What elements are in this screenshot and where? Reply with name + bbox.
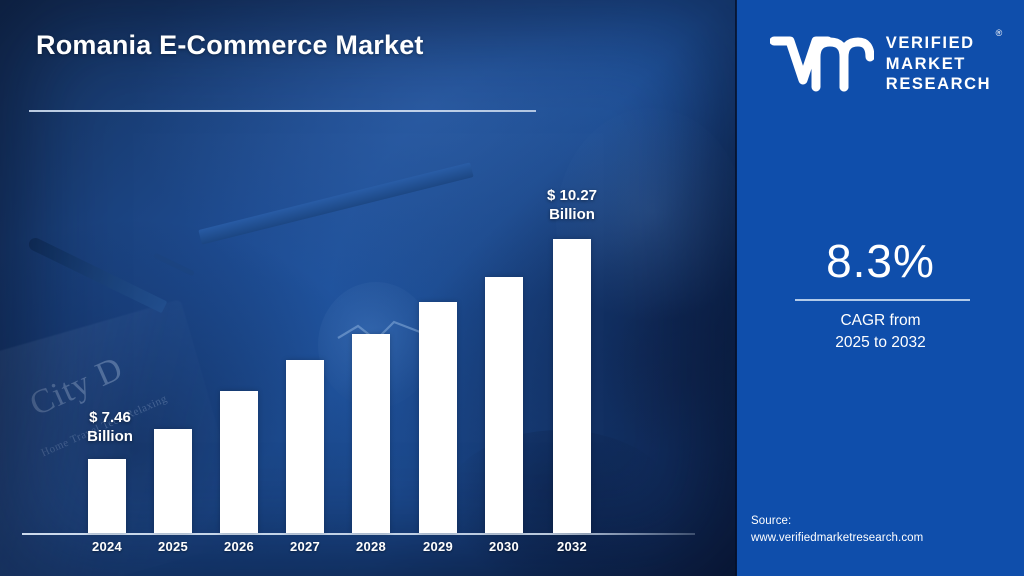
x-axis-label-2032: 2032 bbox=[537, 539, 607, 554]
bar-2029[interactable] bbox=[419, 302, 457, 533]
cagr-divider bbox=[795, 299, 970, 301]
bar-2030[interactable] bbox=[485, 277, 523, 533]
cagr-value: 8.3% bbox=[737, 234, 1024, 288]
registered-trademark-icon: ® bbox=[996, 28, 1003, 39]
brand-name-line-2: MARKET bbox=[886, 54, 991, 75]
x-axis-label-2027: 2027 bbox=[270, 539, 340, 554]
callout-last-value: $ 10.27 Billion bbox=[524, 186, 620, 224]
callout-first-unit: Billion bbox=[62, 427, 158, 446]
brand-logo: VERIFIED MARKET RESEARCH ® bbox=[737, 26, 1024, 102]
brand-name-line-1: VERIFIED bbox=[886, 33, 991, 54]
brand-name: VERIFIED MARKET RESEARCH ® bbox=[886, 33, 991, 95]
brand-panel: VERIFIED MARKET RESEARCH ® 8.3% CAGR fro… bbox=[737, 0, 1024, 576]
callout-first-value: $ 7.46 Billion bbox=[62, 408, 158, 446]
infographic-canvas: City D Home Travel Tech Relaxing Romania… bbox=[0, 0, 1024, 576]
callout-last-unit: Billion bbox=[524, 205, 620, 224]
bar-2025[interactable] bbox=[154, 429, 192, 533]
source-note: Source: www.verifiedmarketresearch.com bbox=[751, 513, 1024, 548]
x-axis-label-2026: 2026 bbox=[204, 539, 274, 554]
x-axis-label-2029: 2029 bbox=[403, 539, 473, 554]
x-axis-label-2028: 2028 bbox=[336, 539, 406, 554]
brand-name-line-3: RESEARCH bbox=[886, 74, 991, 95]
x-axis-label-2030: 2030 bbox=[469, 539, 539, 554]
bar-2026[interactable] bbox=[220, 391, 258, 533]
chart-panel: City D Home Travel Tech Relaxing Romania… bbox=[0, 0, 737, 576]
bar-chart: $ 7.46 Billion $ 10.27 Billion 202420252… bbox=[0, 0, 737, 576]
cagr-caption: CAGR from 2025 to 2032 bbox=[737, 310, 1024, 355]
bar-2024[interactable] bbox=[88, 459, 126, 533]
cagr-caption-line-2: 2025 to 2032 bbox=[737, 332, 1024, 354]
source-label: Source: bbox=[751, 513, 1024, 530]
cagr-caption-line-1: CAGR from bbox=[737, 310, 1024, 332]
x-axis-line bbox=[22, 533, 695, 535]
x-axis-label-2025: 2025 bbox=[138, 539, 208, 554]
bar-2032[interactable] bbox=[553, 239, 591, 533]
x-axis-label-2024: 2024 bbox=[72, 539, 142, 554]
vm-logo-icon bbox=[770, 35, 874, 93]
bar-2027[interactable] bbox=[286, 360, 324, 533]
bar-2028[interactable] bbox=[352, 334, 390, 533]
source-url[interactable]: www.verifiedmarketresearch.com bbox=[751, 530, 1024, 547]
callout-first-amount: $ 7.46 bbox=[62, 408, 158, 427]
callout-last-amount: $ 10.27 bbox=[524, 186, 620, 205]
